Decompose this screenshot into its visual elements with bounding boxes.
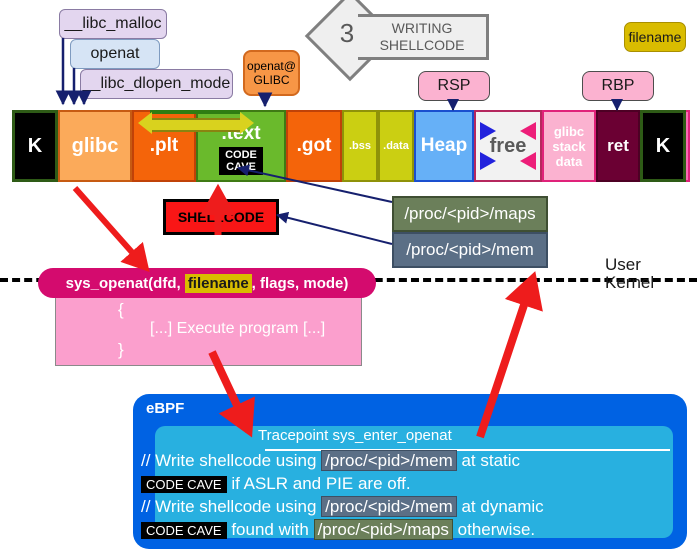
segment-heap: Heap (414, 110, 474, 182)
user-space-label: User (605, 255, 641, 275)
step-title-line1: WRITING (392, 20, 453, 36)
ebpf-comment-line-4: CODE CAVE found with /proc/<pid>/maps ot… (141, 519, 535, 542)
proc-mem-box: /proc/<pid>/mem (392, 232, 548, 268)
syscall-filename-arg: filename (185, 274, 252, 293)
code-cave-line1: CODE (225, 149, 257, 161)
ebpf-comment-line-1: // Write shellcode using /proc/<pid>/mem… (141, 450, 520, 472)
ebpf-comment-line-3: // Write shellcode using /proc/<pid>/mem… (141, 496, 544, 518)
ebpf-tracepoint-title: Tracepoint sys_enter_openat (258, 427, 452, 444)
segment-got: .got (286, 110, 342, 182)
grow-left-arrow-icon-top (520, 122, 536, 140)
ebpf-l1-a: // Write shellcode using (141, 451, 321, 470)
syscall-sig-post: , flags, mode) (252, 275, 349, 292)
ebpf-l1-b: at static (457, 451, 520, 470)
shellcode-box: SHELLCODE (163, 199, 279, 235)
step-title: WRITING SHELLCODE (380, 20, 465, 54)
openat-glibc-line2: GLIBC (253, 73, 289, 87)
ebpf-l4-b: otherwise. (453, 520, 535, 539)
kernel-space-label: Kernel (605, 273, 654, 293)
segment-kernel-right: K (640, 110, 686, 182)
ebpf-l4-a: found with (227, 520, 314, 539)
segment-glibc-stack-data: glibc stack data (542, 110, 596, 182)
stack-line2: stack (552, 139, 585, 154)
syscall-brace-close: } (118, 340, 124, 360)
register-label-rsp: RSP (418, 71, 490, 101)
text-span-double-arrow-icon (138, 112, 254, 134)
openat-glibc-line1: openat@ (247, 59, 296, 73)
syscall-brace-open: { (118, 300, 124, 320)
syscall-signature-pill: sys_openat(dfd, filename, flags, mode) (38, 268, 376, 298)
code-cave-block: CODE CAVE (219, 147, 263, 175)
callout-openat: openat (70, 39, 160, 69)
ebpf-l3-b: at dynamic (457, 497, 544, 516)
segment-ret: ret (596, 110, 640, 182)
memory-layout-bar: K glibc .plt .text CODE CAVE .got .bss .… (12, 110, 686, 182)
grow-left-arrow-icon-bottom (520, 152, 536, 170)
callout-openat-glibc: openat@ GLIBC (243, 50, 300, 96)
code-cave-line2: CAVE (226, 161, 256, 173)
stack-line3: data (556, 154, 583, 169)
segment-data: .data (378, 110, 414, 182)
syscall-body-text: [...] Execute program [...] (150, 320, 325, 338)
step-title-line2: SHELLCODE (380, 37, 465, 53)
segment-bss: .bss (342, 110, 378, 182)
ebpf-comment-line-2: CODE CAVE if ASLR and PIE are off. (141, 473, 411, 496)
ebpf-l2-b: if ASLR and PIE are off. (227, 474, 411, 493)
segment-free: free (474, 110, 542, 182)
callout-libc-dlopen-mode: __libc_dlopen_mode (80, 69, 233, 99)
grow-right-arrow-icon-bottom (480, 152, 496, 170)
step-number: 3 (318, 4, 376, 62)
segment-glibc: glibc (58, 110, 132, 182)
ebpf-l1-proc-mem-token: /proc/<pid>/mem (321, 450, 457, 471)
ebpf-label: eBPF (146, 400, 184, 417)
ebpf-l4-code-cave-token: CODE CAVE (141, 522, 227, 539)
register-label-rbp: RBP (582, 71, 654, 101)
grow-right-arrow-icon-top (480, 122, 496, 140)
proc-maps-box: /proc/<pid>/maps (392, 196, 548, 232)
stack-line1: glibc (554, 124, 584, 139)
callout-libc-malloc: __libc_malloc (59, 9, 167, 39)
ebpf-l2-code-cave-token: CODE CAVE (141, 476, 227, 493)
ebpf-l3-proc-mem-token: /proc/<pid>/mem (321, 496, 457, 517)
ebpf-l4-proc-maps-token: /proc/<pid>/maps (314, 519, 453, 540)
step-banner: WRITING SHELLCODE (358, 14, 489, 60)
syscall-sig-pre: sys_openat(dfd, (66, 275, 185, 292)
filename-pill: filename (624, 22, 686, 52)
ebpf-l3-a: // Write shellcode using (141, 497, 321, 516)
segment-kernel-left: K (12, 110, 58, 182)
